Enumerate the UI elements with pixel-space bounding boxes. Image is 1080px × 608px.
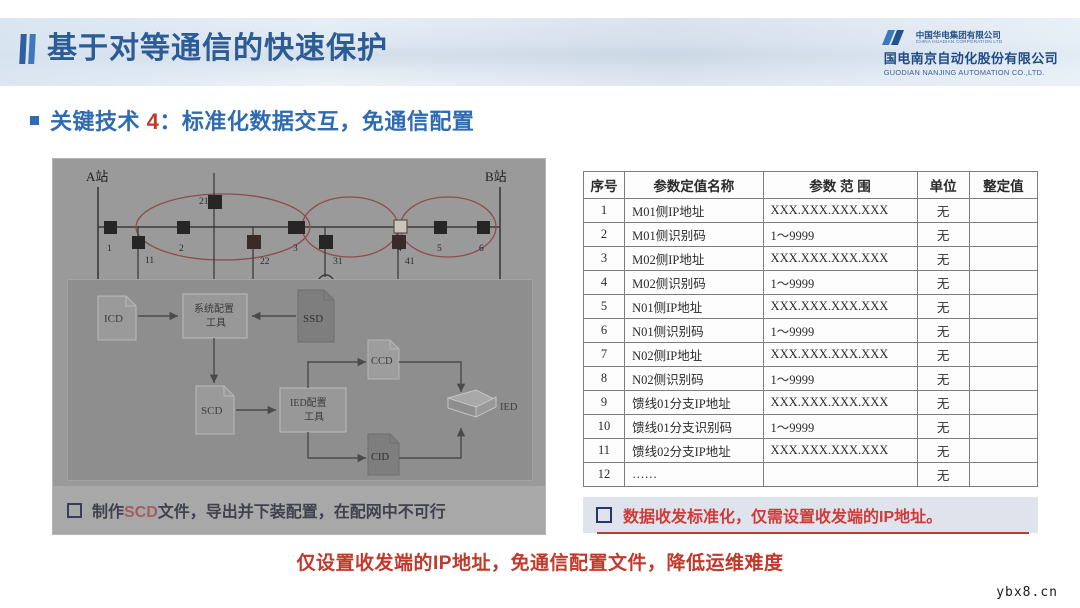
svg-text:IED配置: IED配置: [290, 397, 327, 409]
cell-index: 9: [584, 391, 625, 415]
logo-parent-row: 中国华电集团有限公司 CHINA HUADIAN CORPORATION LTD: [884, 30, 1058, 45]
page-title-group: 基于对等通信的快速保护: [20, 34, 388, 64]
table-row: 7 N02侧IP地址 XXX.XXX.XXX.XXX 无: [584, 343, 1038, 367]
subtitle-prefix: 关键技术: [50, 109, 147, 134]
svg-text:CCD: CCD: [371, 356, 393, 367]
cell-unit: 无: [917, 439, 969, 463]
caption-part2: 文件，导出并下装配置，在配网中不可行: [158, 504, 446, 521]
cell-value[interactable]: [969, 343, 1037, 367]
cell-range: 1～9999: [763, 271, 917, 295]
title-bars-icon: [20, 34, 38, 64]
logo-company-en: GUODIAN NANJING AUTOMATION CO.,LTD.: [884, 68, 1058, 77]
cell-index: 10: [584, 415, 625, 439]
table-caption-text: 数据收发标准化，仅需设置收发端的IP地址。: [623, 503, 942, 527]
svg-text:22: 22: [260, 257, 270, 267]
cell-index: 3: [584, 247, 625, 271]
section-subtitle: 关键技术 4：标准化数据交互，免通信配置: [30, 104, 474, 136]
cell-name: 馈线02分支IP地址: [625, 439, 763, 463]
configuration-flow-diagram: ICD 系统配置 工具 SSD SCD IED配置 工具: [67, 279, 533, 481]
cell-unit: 无: [917, 463, 969, 487]
table-row: 6 N01侧识别码 1～9999 无: [584, 319, 1038, 343]
cell-range: 1～9999: [763, 223, 917, 247]
svg-text:工具: 工具: [206, 317, 226, 329]
logo-parent-cn: 中国华电集团有限公司: [916, 31, 1003, 40]
th-setting-value: 整定值: [969, 172, 1037, 199]
table-row: 10 馈线01分支识别码 1～9999 无: [584, 415, 1038, 439]
cell-range: XXX.XXX.XXX.XXX: [763, 391, 917, 415]
cell-index: 12: [584, 463, 625, 487]
parameter-table: 序号 参数定值名称 参数 范 围 单位 整定值 1 M01侧IP地址 XXX.X…: [583, 171, 1038, 487]
cell-name: M02侧识别码: [625, 271, 763, 295]
cell-range: XXX.XXX.XXX.XXX: [763, 199, 917, 223]
table-row: 4 M02侧识别码 1～9999 无: [584, 271, 1038, 295]
cell-unit: 无: [917, 319, 969, 343]
cell-unit: 无: [917, 415, 969, 439]
cell-index: 2: [584, 223, 625, 247]
svg-text:工具: 工具: [304, 411, 324, 423]
cell-value[interactable]: [969, 391, 1037, 415]
svg-text:SCD: SCD: [201, 405, 222, 417]
logo-parent-text-group: 中国华电集团有限公司 CHINA HUADIAN CORPORATION LTD: [916, 31, 1003, 45]
cell-value[interactable]: [969, 223, 1037, 247]
cell-unit: 无: [917, 391, 969, 415]
caption-part1: 制作: [92, 504, 124, 521]
svg-text:31: 31: [333, 257, 343, 267]
hollow-square-bullet-icon: [596, 507, 612, 523]
table-row: 5 N01侧IP地址 XXX.XXX.XXX.XXX 无: [584, 295, 1038, 319]
cell-value[interactable]: [969, 271, 1037, 295]
cell-value[interactable]: [969, 319, 1037, 343]
cell-name: N02侧IP地址: [625, 343, 763, 367]
subtitle-number: 4: [147, 109, 160, 134]
cell-range: XXX.XXX.XXX.XXX: [763, 295, 917, 319]
svg-text:4: 4: [397, 244, 402, 254]
table-caption: 数据收发标准化，仅需设置收发端的IP地址。: [583, 497, 1038, 533]
cell-value[interactable]: [969, 439, 1037, 463]
cell-index: 1: [584, 199, 625, 223]
table-row: 9 馈线01分支IP地址 XXX.XXX.XXX.XXX 无: [584, 391, 1038, 415]
cell-range: [763, 463, 917, 487]
cell-range: XXX.XXX.XXX.XXX: [763, 343, 917, 367]
caption-underline: [597, 532, 1029, 534]
huadian-logo-icon: [884, 30, 910, 45]
cell-index: 8: [584, 367, 625, 391]
svg-text:21: 21: [199, 197, 209, 207]
cell-unit: 无: [917, 367, 969, 391]
svg-text:ICD: ICD: [104, 313, 123, 325]
cell-index: 11: [584, 439, 625, 463]
svg-text:CID: CID: [371, 452, 390, 463]
subtitle-suffix: ：标准化数据交互，免通信配置: [159, 109, 474, 134]
diagram-caption: 制作SCD文件，导出并下装配置，在配网中不可行: [53, 486, 545, 534]
cell-value[interactable]: [969, 199, 1037, 223]
flow-svg: ICD 系统配置 工具 SSD SCD IED配置 工具: [68, 280, 532, 480]
svg-text:5: 5: [437, 244, 442, 254]
cell-range: XXX.XXX.XXX.XXX: [763, 439, 917, 463]
cell-range: XXX.XXX.XXX.XXX: [763, 247, 917, 271]
svg-text:IED: IED: [500, 402, 518, 413]
cell-index: 7: [584, 343, 625, 367]
page-title: 基于对等通信的快速保护: [47, 34, 388, 64]
cell-unit: 无: [917, 343, 969, 367]
svg-text:3: 3: [293, 244, 298, 254]
cell-unit: 无: [917, 247, 969, 271]
svg-text:11: 11: [145, 256, 154, 266]
cell-name: M01侧IP地址: [625, 199, 763, 223]
cell-range: 1～9999: [763, 319, 917, 343]
table-row: 12 …… 无: [584, 463, 1038, 487]
svg-text:41: 41: [405, 257, 415, 267]
square-bullet-icon: [30, 116, 39, 125]
cell-name: N02侧识别码: [625, 367, 763, 391]
table-row: 8 N02侧识别码 1～9999 无: [584, 367, 1038, 391]
svg-text:A站: A站: [86, 169, 108, 184]
table-header-row: 序号 参数定值名称 参数 范 围 单位 整定值: [584, 172, 1038, 199]
svg-text:系统配置: 系统配置: [194, 302, 234, 315]
svg-text:B站: B站: [485, 169, 507, 184]
th-param-range: 参数 范 围: [763, 172, 917, 199]
th-param-name: 参数定值名称: [625, 172, 763, 199]
cell-name: 馈线01分支IP地址: [625, 391, 763, 415]
cell-index: 4: [584, 271, 625, 295]
cell-value[interactable]: [969, 295, 1037, 319]
cell-range: 1～9999: [763, 415, 917, 439]
svg-text:6: 6: [479, 244, 484, 254]
svg-text:2: 2: [179, 244, 184, 254]
cell-index: 5: [584, 295, 625, 319]
table-row: 11 馈线02分支IP地址 XXX.XXX.XXX.XXX 无: [584, 439, 1038, 463]
cell-name: M02侧IP地址: [625, 247, 763, 271]
th-unit: 单位: [917, 172, 969, 199]
cell-name: ……: [625, 463, 763, 487]
cell-value[interactable]: [969, 247, 1037, 271]
table-row: 3 M02侧IP地址 XXX.XXX.XXX.XXX 无: [584, 247, 1038, 271]
cell-index: 6: [584, 319, 625, 343]
svg-text:1: 1: [107, 244, 112, 254]
cell-name: 馈线01分支识别码: [625, 415, 763, 439]
cell-unit: 无: [917, 271, 969, 295]
cell-value[interactable]: [969, 415, 1037, 439]
diagram-caption-text: 制作SCD文件，导出并下装配置，在配网中不可行: [92, 498, 446, 522]
watermark: ybx8.cn: [996, 585, 1058, 600]
bottom-summary: 仅设置收发端的IP地址，免通信配置文件，降低运维难度: [0, 548, 1080, 575]
table-row: 2 M01侧识别码 1～9999 无: [584, 223, 1038, 247]
hollow-square-bullet-icon: [67, 503, 82, 518]
company-logo: 中国华电集团有限公司 CHINA HUADIAN CORPORATION LTD…: [884, 30, 1058, 77]
svg-text:SSD: SSD: [303, 313, 323, 325]
cell-range: 1～9999: [763, 367, 917, 391]
cell-value[interactable]: [969, 463, 1037, 487]
logo-parent-en: CHINA HUADIAN CORPORATION LTD: [916, 39, 1003, 44]
logo-company-cn: 国电南京自动化股份有限公司: [884, 48, 1058, 67]
cell-value[interactable]: [969, 367, 1037, 391]
cell-name: N01侧识别码: [625, 319, 763, 343]
subtitle-text: 关键技术 4：标准化数据交互，免通信配置: [50, 104, 474, 136]
cell-unit: 无: [917, 199, 969, 223]
cell-name: N01侧IP地址: [625, 295, 763, 319]
cell-unit: 无: [917, 223, 969, 247]
table-row: 1 M01侧IP地址 XXX.XXX.XXX.XXX 无: [584, 199, 1038, 223]
diagram-panel: A站 B站 1 2 3 4 5 6 11 21 22 31 41 ICD: [52, 158, 546, 535]
th-index: 序号: [584, 172, 625, 199]
caption-highlight: SCD: [124, 504, 158, 521]
cell-name: M01侧识别码: [625, 223, 763, 247]
cell-unit: 无: [917, 295, 969, 319]
